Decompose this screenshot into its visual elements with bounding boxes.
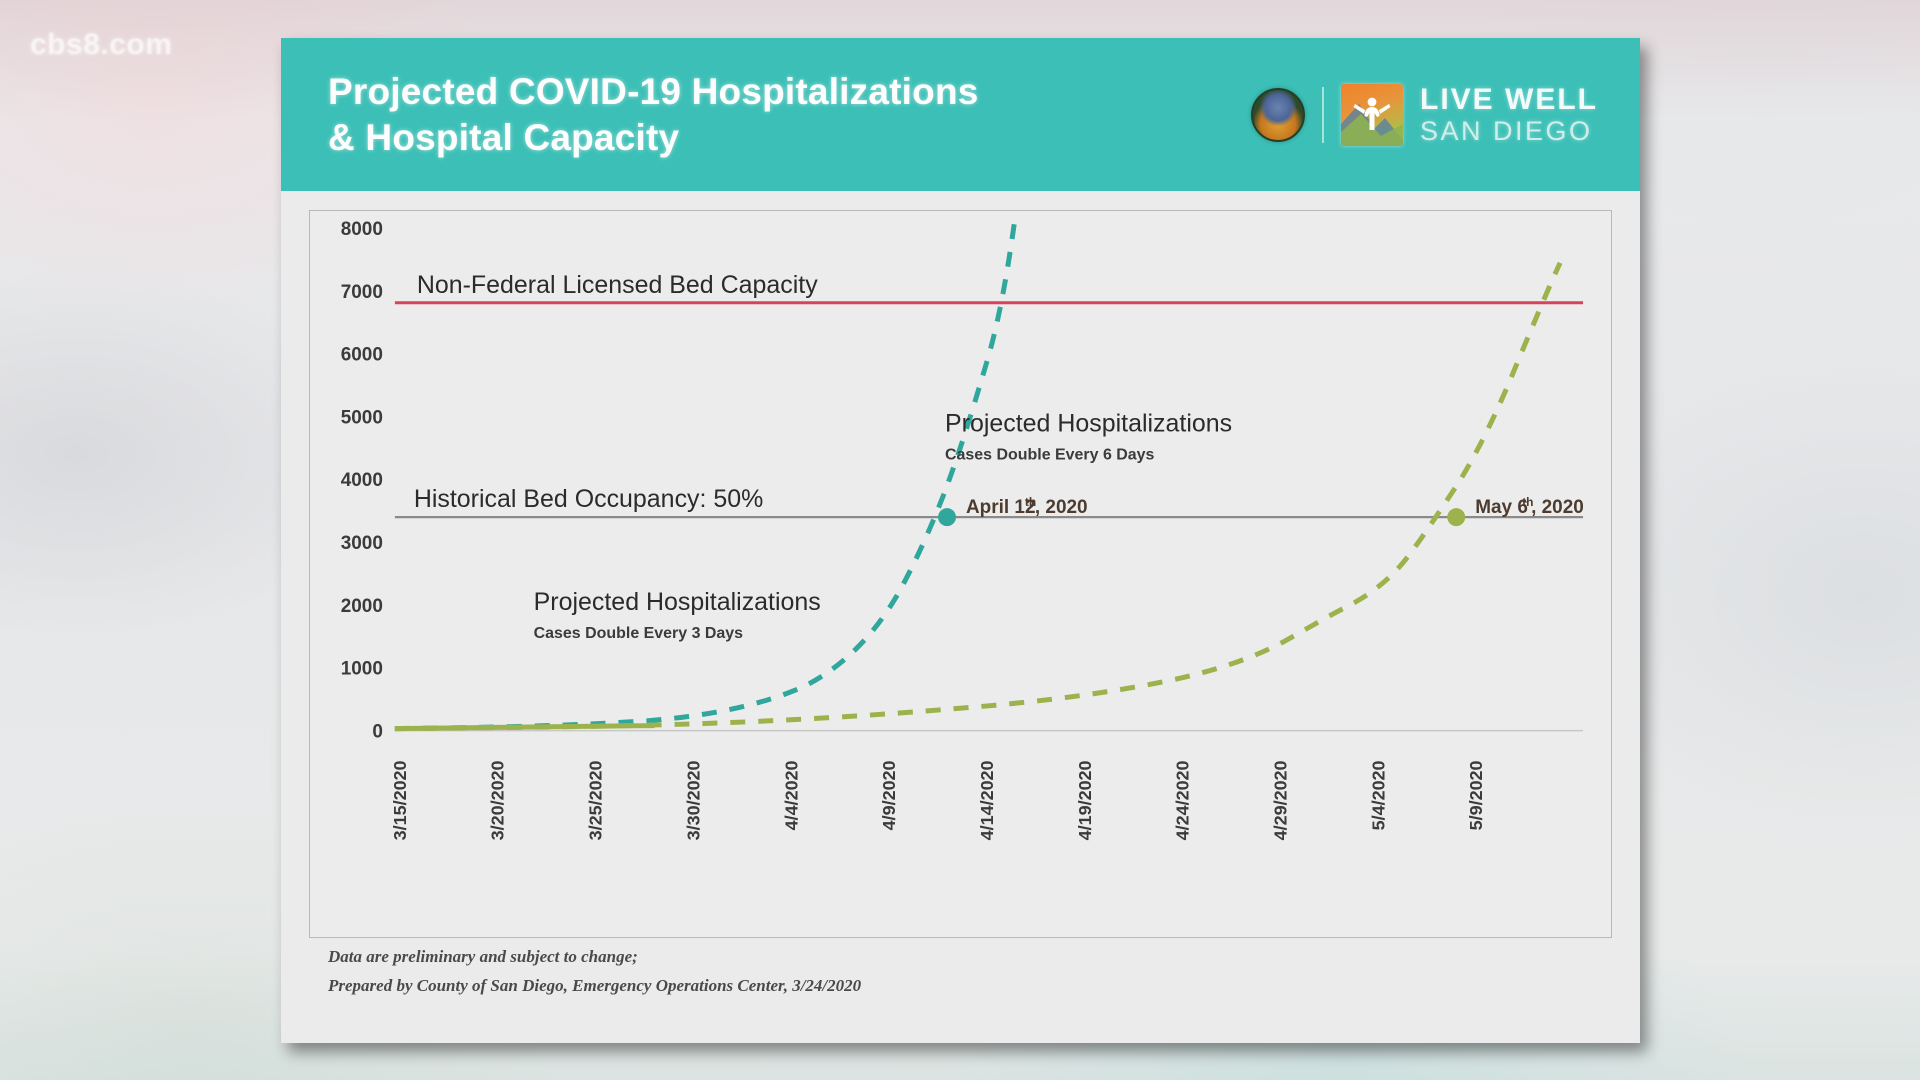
footnote-line-1: Data are preliminary and subject to chan…: [328, 943, 861, 972]
slide-header: Projected COVID-19 Hospitalizations & Ho…: [281, 38, 1640, 191]
live-well-san-diego-wordmark: LIVE WELL SAN DIEGO: [1420, 85, 1598, 145]
x-tick-label: 4/24/2020: [1173, 760, 1193, 840]
y-tick-label: 1000: [341, 659, 383, 680]
x-tick-label: 3/25/2020: [586, 760, 606, 840]
x-tick-label: 3/20/2020: [488, 760, 508, 840]
series-label-sub: Cases Double Every 6 Days: [945, 446, 1155, 463]
x-tick-label: 5/4/2020: [1368, 760, 1388, 830]
x-tick-label: 5/9/2020: [1466, 760, 1486, 830]
may-6-marker-dot: [1447, 508, 1465, 526]
x-tick-label: 4/29/2020: [1270, 760, 1290, 840]
y-tick-label: 0: [372, 722, 383, 743]
slide-footnote: Data are preliminary and subject to chan…: [328, 943, 861, 1001]
projection-line-chart: 8000 7000 6000 5000 4000 3000 2000 1000 …: [310, 211, 1611, 937]
april-12-marker-dot: [938, 508, 956, 526]
y-tick-label: 2000: [341, 596, 383, 617]
brand-line-2: SAN DIEGO: [1420, 118, 1598, 145]
county-seal-icon: [1251, 88, 1305, 142]
series-label-title: Projected Hospitalizations: [534, 588, 821, 616]
y-tick-label: 7000: [341, 282, 383, 303]
y-tick-label: 4000: [341, 470, 383, 491]
footnote-line-2: Prepared by County of San Diego, Emergen…: [328, 972, 861, 1001]
x-tick-label: 4/19/2020: [1075, 760, 1095, 840]
y-tick-label: 3000: [341, 533, 383, 554]
series-label-sub: Cases Double Every 3 Days: [534, 625, 744, 642]
slide-title-line-2: & Hospital Capacity: [328, 115, 979, 161]
x-tick-label: 4/9/2020: [879, 760, 899, 830]
y-axis: 8000 7000 6000 5000 4000 3000 2000 1000 …: [341, 219, 383, 743]
historical-occupancy-label: Historical Bed Occupancy: 50%: [414, 485, 764, 513]
may-6-suffix: , 2020: [1531, 497, 1584, 518]
y-tick-label: 5000: [341, 407, 383, 428]
logo-divider: [1322, 87, 1324, 143]
may-6-label: May 6: [1475, 497, 1528, 518]
x-tick-label: 4/4/2020: [781, 760, 801, 830]
live-well-san-diego-icon: [1341, 84, 1403, 146]
bed-capacity-label: Non-Federal Licensed Bed Capacity: [417, 271, 818, 299]
y-tick-label: 6000: [341, 345, 383, 366]
broadcast-watermark: cbs8.com: [30, 28, 172, 62]
presentation-slide: Projected COVID-19 Hospitalizations & Ho…: [281, 38, 1640, 1043]
x-tick-label: 3/15/2020: [390, 760, 410, 840]
page-title: Projected COVID-19 Hospitalizations & Ho…: [328, 69, 979, 160]
x-tick-label: 3/30/2020: [683, 760, 703, 840]
series-early-overlap-segment: [395, 726, 655, 729]
slide-title-line-1: Projected COVID-19 Hospitalizations: [328, 69, 979, 115]
logo-group: LIVE WELL SAN DIEGO: [1251, 84, 1598, 146]
y-tick-label: 8000: [341, 219, 383, 240]
chart-container: 8000 7000 6000 5000 4000 3000 2000 1000 …: [309, 210, 1612, 938]
april-12-suffix: , 2020: [1035, 497, 1088, 518]
brand-line-1: LIVE WELL: [1420, 85, 1598, 115]
series-label-title: Projected Hospitalizations: [945, 409, 1232, 437]
x-tick-label: 4/14/2020: [977, 760, 997, 840]
